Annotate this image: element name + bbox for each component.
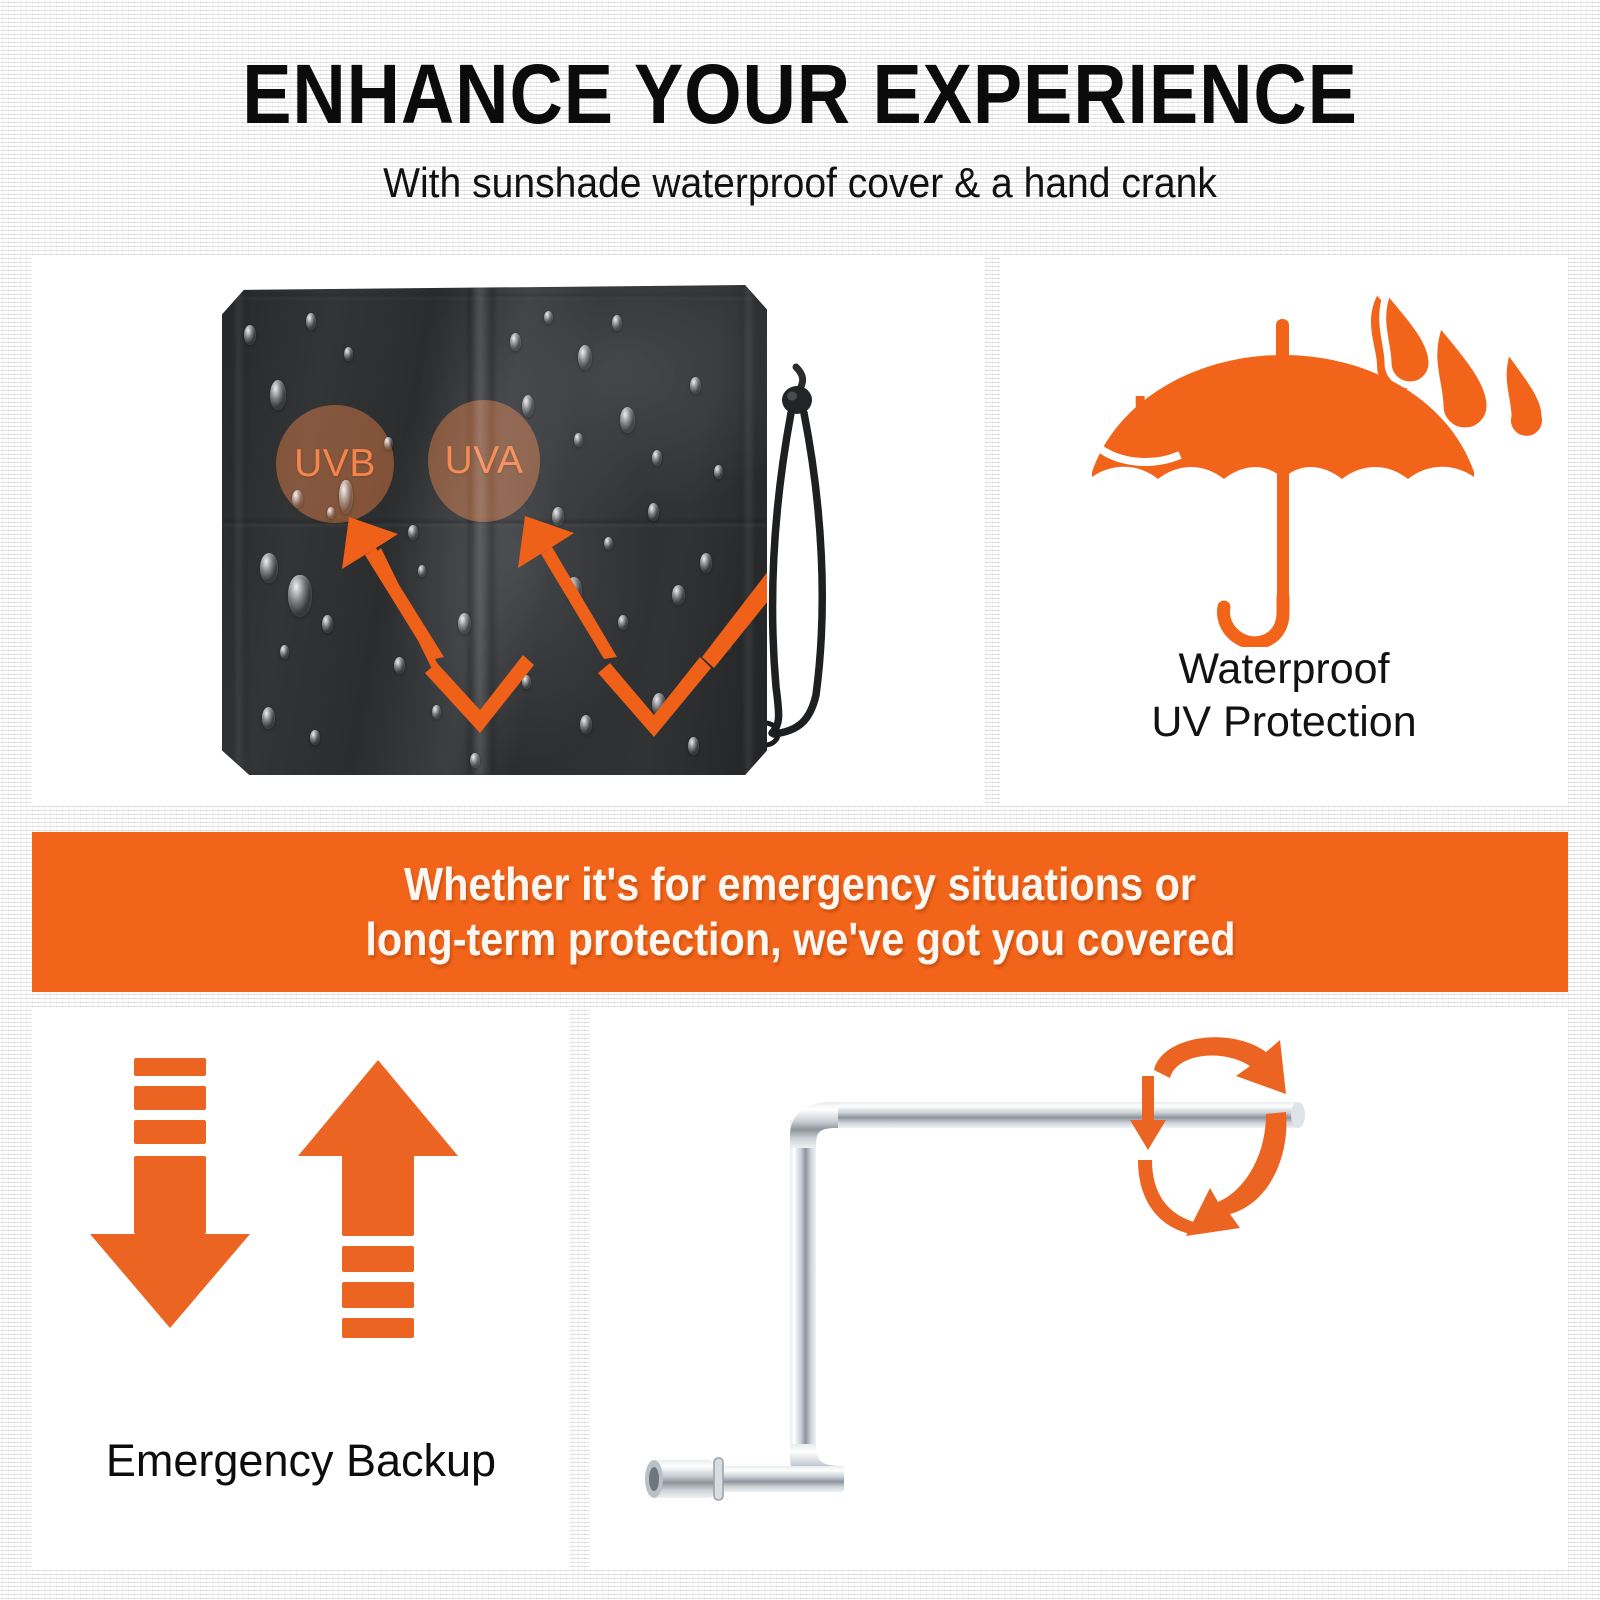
panel-uv-protection: UV Waterproof UV Protection xyxy=(1000,255,1568,805)
promo-banner: Whether it's for emergency situations or… xyxy=(32,832,1568,992)
hand-crank-tool-photo xyxy=(590,1008,1568,1570)
banner-line-2: long-term protection, we've got you cove… xyxy=(365,912,1235,967)
banner-line-1: Whether it's for emergency situations or xyxy=(404,857,1196,912)
uv-icon-label: UV xyxy=(1132,384,1218,453)
uv-protection-caption: Waterproof UV Protection xyxy=(1000,643,1568,749)
umbrella-uv-waterdrops-icon: UV xyxy=(1000,267,1568,647)
emergency-backup-caption: Emergency Backup xyxy=(32,1436,570,1486)
rotation-arrow-icon xyxy=(1090,1008,1350,1248)
panel-hand-crank xyxy=(590,1008,1568,1570)
panel-emergency-backup: Emergency Backup xyxy=(32,1008,570,1570)
uv-reflection-arrows-icon xyxy=(222,285,767,775)
page-subtitle: With sunshade waterproof cover & a hand … xyxy=(56,162,1544,204)
cover-photo-wrap: UVB UVA xyxy=(32,255,985,805)
header: ENHANCE YOUR EXPERIENCE With sunshade wa… xyxy=(0,0,1600,250)
panel-sunshade-cover: UVB UVA xyxy=(32,255,985,805)
page-title: ENHANCE YOUR EXPERIENCE xyxy=(96,52,1504,136)
uv-caption-line1: Waterproof xyxy=(1000,643,1568,696)
up-down-arrows-icon xyxy=(32,1028,570,1448)
cover-bag-body: UVB UVA xyxy=(222,285,767,775)
uv-caption-line2: UV Protection xyxy=(1000,696,1568,749)
